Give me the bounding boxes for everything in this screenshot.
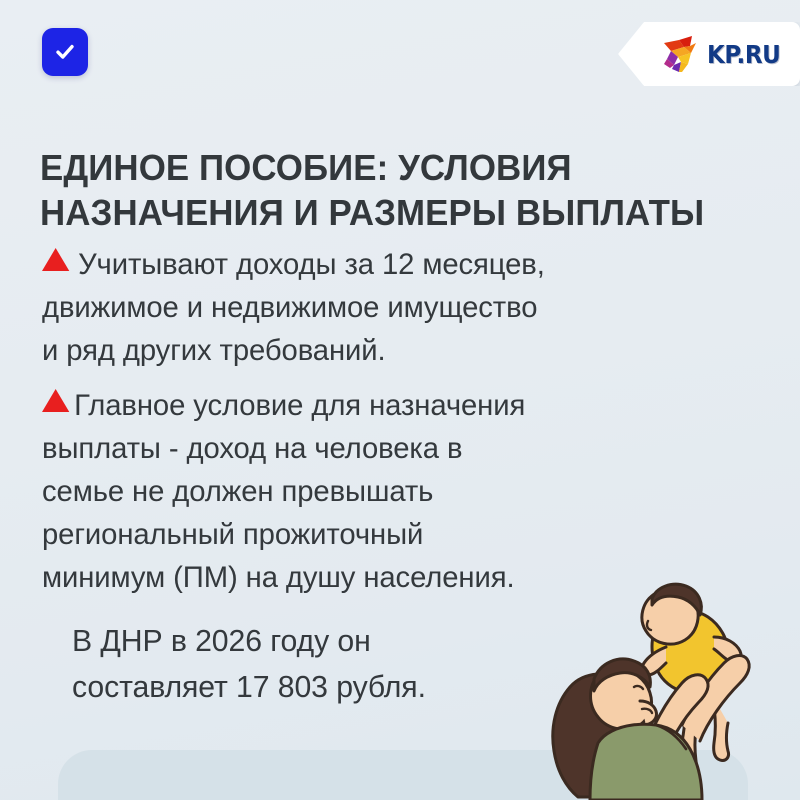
bullet-2-line-1: Главное условие для назначения [74,389,525,422]
red-triangle-icon [42,248,69,271]
highlight-line-1: В ДНР в 2026 году он [72,618,579,664]
bullet-line: Учитывают доходы за 12 месяцев, [42,243,725,286]
bullet-paragraph-2: Главное условие для назначения выплаты -… [42,384,725,599]
red-triangle-icon [42,389,69,412]
headline-line-1: ЕДИНОЕ ПОСОБИЕ: УСЛОВИЯ [40,145,709,190]
bullet-paragraph-1: Учитывают доходы за 12 месяцев, движимое… [42,243,725,372]
bullet-2-line-5: минимум (ПМ) на душу населения. [42,556,725,599]
bullet-line: Главное условие для назначения [42,384,725,427]
bullet-2-line-3: семье не должен превышать [42,470,725,513]
bullet-2-line-2: выплаты - доход на человека в [42,427,725,470]
brand-badge-kp-ru[interactable]: KP.RU [618,22,800,86]
check-badge [42,28,88,76]
infographic-poster: KP.RU ЕДИНОЕ ПОСОБИЕ: УСЛОВИЯ НАЗНАЧЕНИЯ… [0,0,800,800]
check-icon [52,39,78,65]
bullet-1-line-3: и ряд других требований. [42,329,725,372]
bullet-1-line-2: движимое и недвижимое имущество [42,286,725,329]
bullet-1-line-1: Учитывают доходы за 12 месяцев, [78,248,545,281]
kp-bird-icon [658,34,700,74]
page-title: ЕДИНОЕ ПОСОБИЕ: УСЛОВИЯ НАЗНАЧЕНИЯ И РАЗ… [40,145,709,235]
brand-wordmark: KP.RU [707,40,780,69]
highlight-paragraph: В ДНР в 2026 году он составляет 17 803 р… [72,618,579,710]
headline-line-2: НАЗНАЧЕНИЯ И РАЗМЕРЫ ВЫПЛАТЫ [40,190,709,235]
highlight-line-2: составляет 17 803 рубля. [72,664,579,710]
bullet-2-line-4: региональный прожиточный [42,513,725,556]
